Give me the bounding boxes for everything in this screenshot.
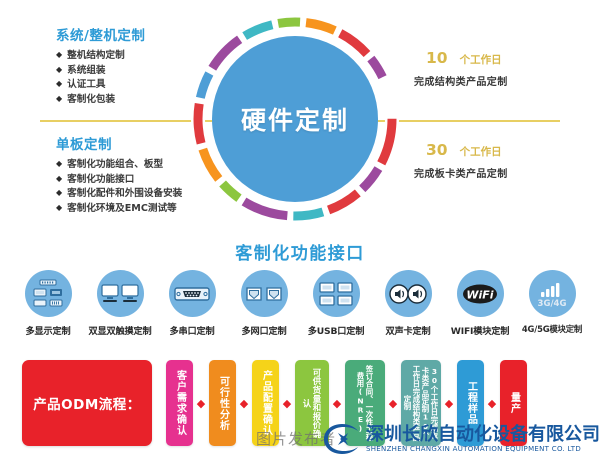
- icon-bubble: [241, 270, 288, 317]
- diamond-bullet-icon: ◆: [56, 189, 62, 197]
- interface-item-ethernet-port: 多网口定制: [230, 270, 298, 337]
- lead-time-number: 10: [426, 49, 448, 67]
- interface-label: 4G/5G模块定制: [522, 323, 582, 335]
- list-item: ◆客制化配件和外围设备安装: [56, 187, 182, 202]
- board-customization-block: 单板定制 ◆客制化功能组合、板型 ◆客制化功能接口 ◆客制化配件和外围设备安装 …: [56, 133, 182, 216]
- interface-label: WIFI模块定制: [451, 323, 509, 337]
- icon-bubble: [169, 270, 216, 317]
- interface-label: 多串口定制: [170, 323, 215, 337]
- flow-arrow-icon: ◆: [236, 360, 252, 446]
- company-logo-text: 深圳长欣自动化设备有限公司 SHENZHEN CHANGXIN AUTOMATI…: [366, 425, 600, 454]
- list-item: ◆客制化包装: [56, 93, 145, 108]
- lead-time-unit: 个工作日: [460, 54, 502, 66]
- company-name-en: SHENZHEN CHANGXIN AUTOMATION EQUIPMENT C…: [366, 445, 600, 454]
- top-section: 系统/整机定制 ◆整机结构定制 ◆系统组装 ◆认证工具 ◆客制化包装 单板定制 …: [0, 0, 600, 235]
- ethernet-port-icon: [245, 281, 283, 307]
- icon-bubble: [313, 270, 360, 317]
- serial-port-icon: [174, 283, 210, 305]
- list-item-label: 客制化功能组合、板型: [67, 158, 163, 173]
- icon-bubble: [385, 270, 432, 317]
- interface-label: 多网口定制: [242, 323, 287, 337]
- system-block-list: ◆整机结构定制 ◆系统组装 ◆认证工具 ◆客制化包装: [56, 49, 145, 107]
- list-item: ◆系统组装: [56, 64, 145, 79]
- list-item-label: 认证工具: [67, 78, 105, 93]
- list-item: ◆客制化功能组合、板型: [56, 158, 182, 173]
- icon-bubble: [97, 270, 144, 317]
- list-item-label: 客制化功能接口: [67, 173, 134, 188]
- list-item-label: 客制化环境及EMC测试等: [67, 202, 177, 217]
- svg-text:3G/4G: 3G/4G: [538, 299, 567, 309]
- interface-label: 双声卡定制: [386, 323, 431, 337]
- interface-item-serial-port: 多串口定制: [158, 270, 226, 337]
- icon-bubble: [25, 270, 72, 317]
- interface-item-4g-5g: 3G/4G 4G/5G模块定制: [518, 270, 586, 335]
- signal-3g-4g-icon: 3G/4G: [535, 279, 569, 309]
- spacer: [152, 360, 166, 446]
- multi-display-ports-icon: [30, 276, 66, 312]
- diamond-bullet-icon: ◆: [56, 66, 62, 74]
- diamond-bullet-icon: ◆: [56, 51, 62, 59]
- wifi-icon: WiFi: [460, 281, 500, 307]
- diamond-bullet-icon: ◆: [56, 175, 62, 183]
- lead-time-10-days: 10个工作日 完成结构类产品定制: [414, 48, 508, 88]
- interface-label: 多USB口定制: [308, 323, 364, 337]
- system-block-heading: 系统/整机定制: [56, 24, 145, 44]
- company-logo: 深圳长欣自动化设备有限公司 SHENZHEN CHANGXIN AUTOMATI…: [322, 422, 600, 456]
- diamond-bullet-icon: ◆: [56, 95, 62, 103]
- list-item-label: 客制化配件和外围设备安装: [67, 187, 182, 202]
- lead-time-unit: 个工作日: [460, 146, 502, 158]
- diamond-bullet-icon: ◆: [56, 80, 62, 88]
- interface-label: 双显双触摸定制: [89, 323, 152, 337]
- dual-touch-display-icon: [101, 280, 139, 308]
- board-block-list: ◆客制化功能组合、板型 ◆客制化功能接口 ◆客制化配件和外围设备安装 ◆客制化环…: [56, 158, 182, 216]
- audio-speaker-icon: [389, 282, 427, 306]
- interface-item-audio: 双声卡定制: [374, 270, 442, 337]
- interface-item-multi-display: 多显示定制: [14, 270, 82, 337]
- svg-text:WiFi: WiFi: [466, 288, 493, 301]
- flow-arrow-icon: ◆: [193, 360, 209, 446]
- interface-label: 多显示定制: [26, 323, 71, 337]
- diamond-bullet-icon: ◆: [56, 204, 62, 212]
- list-item-label: 系统组装: [67, 64, 105, 79]
- interface-item-usb-port: 多USB口定制: [302, 270, 370, 337]
- interface-item-wifi: WiFi WIFI模块定制: [446, 270, 514, 337]
- lead-time-desc: 完成结构类产品定制: [414, 73, 508, 88]
- icon-bubble: 3G/4G: [529, 270, 576, 317]
- interface-item-dual-touch: 双显双触摸定制: [86, 270, 154, 337]
- changxin-logo-icon: [322, 422, 362, 456]
- list-item-label: 整机结构定制: [67, 49, 125, 64]
- hardware-customization-circle: 硬件定制: [190, 14, 400, 224]
- list-item: ◆整机结构定制: [56, 49, 145, 64]
- flow-step-1: 客户需求确认: [166, 360, 193, 446]
- system-customization-block: 系统/整机定制 ◆整机结构定制 ◆系统组装 ◆认证工具 ◆客制化包装: [56, 24, 145, 107]
- list-item-label: 客制化包装: [67, 93, 115, 108]
- icon-bubble: WiFi: [457, 270, 504, 317]
- flow-step-2: 可行性分析: [209, 360, 236, 446]
- interfaces-title: 客制化功能接口: [0, 236, 600, 264]
- list-item: ◆客制化环境及EMC测试等: [56, 202, 182, 217]
- company-name-cn: 深圳长欣自动化设备有限公司: [366, 425, 600, 445]
- lead-time-30-days: 30个工作日 完成板卡类产品定制: [414, 140, 508, 180]
- diamond-bullet-icon: ◆: [56, 160, 62, 168]
- list-item: ◆客制化功能接口: [56, 173, 182, 188]
- lead-time-desc: 完成板卡类产品定制: [414, 165, 508, 180]
- interfaces-icon-row: 多显示定制 双显双触摸定制: [14, 270, 586, 337]
- board-block-heading: 单板定制: [56, 133, 182, 153]
- infographic-canvas: 系统/整机定制 ◆整机结构定制 ◆系统组装 ◆认证工具 ◆客制化包装 单板定制 …: [0, 0, 600, 458]
- circle-core: 硬件定制: [212, 36, 378, 202]
- lead-time-number: 30: [426, 141, 448, 159]
- usb-port-icon: [318, 280, 354, 308]
- list-item: ◆认证工具: [56, 78, 145, 93]
- circle-label: 硬件定制: [241, 101, 349, 137]
- interfaces-section: 客制化功能接口 多显示定制: [0, 236, 600, 346]
- odm-flow-title-box: 产品ODM流程：: [22, 360, 152, 446]
